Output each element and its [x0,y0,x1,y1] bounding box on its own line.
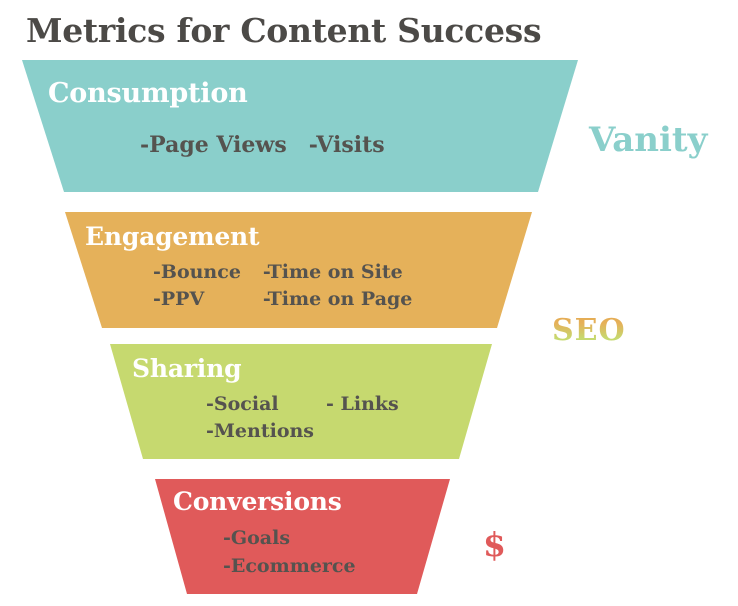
engagement-content: Engagement -Bounce -Time on Site -PPV -T… [55,210,555,332]
metric-page-views: -Page Views [140,132,287,158]
metric-time-on-page: -Time on Page [263,287,412,312]
conversions-metric-list: -Goals -Ecommerce [223,525,356,579]
metric-goals: -Goals [223,525,356,551]
side-label-dollar: $ [483,525,506,564]
metric-links: - Links [326,392,399,417]
funnel-stage-consumption[interactable]: Consumption -Page Views -Visits [0,58,600,198]
sharing-metric-list: -Social - Links -Mentions [206,392,399,444]
metric-visits: -Visits [309,132,385,158]
metric-bounce: -Bounce [153,260,241,285]
sharing-content: Sharing -Social - Links -Mentions [100,342,510,464]
side-label-vanity: Vanity [589,120,707,160]
page-title: Metrics for Content Success [26,12,541,50]
metric-social: -Social [206,392,314,417]
metric-time-on-site: -Time on Site [263,260,412,285]
side-label-seo: SEO [552,313,626,348]
engagement-metric-list: -Bounce -Time on Site -PPV -Time on Page [153,260,412,312]
conversions-content: Conversions -Goals -Ecommerce [145,477,465,599]
metric-mentions: -Mentions [206,419,314,444]
funnel-stage-sharing[interactable]: Sharing -Social - Links -Mentions [100,342,510,464]
funnel-infographic: Metrics for Content Success Consumption … [0,0,738,606]
consumption-content: Consumption -Page Views -Visits [0,58,600,198]
stage-heading-consumption: Consumption [48,78,248,109]
funnel-stage-engagement[interactable]: Engagement -Bounce -Time on Site -PPV -T… [55,210,555,332]
stage-heading-conversions: Conversions [173,487,342,516]
stage-heading-engagement: Engagement [85,222,259,251]
stage-heading-sharing: Sharing [132,354,241,383]
consumption-metric-list: -Page Views -Visits [140,132,385,158]
metric-ppv: -PPV [153,287,241,312]
funnel-stage-conversions[interactable]: Conversions -Goals -Ecommerce [145,477,465,599]
metric-ecommerce: -Ecommerce [223,553,356,579]
